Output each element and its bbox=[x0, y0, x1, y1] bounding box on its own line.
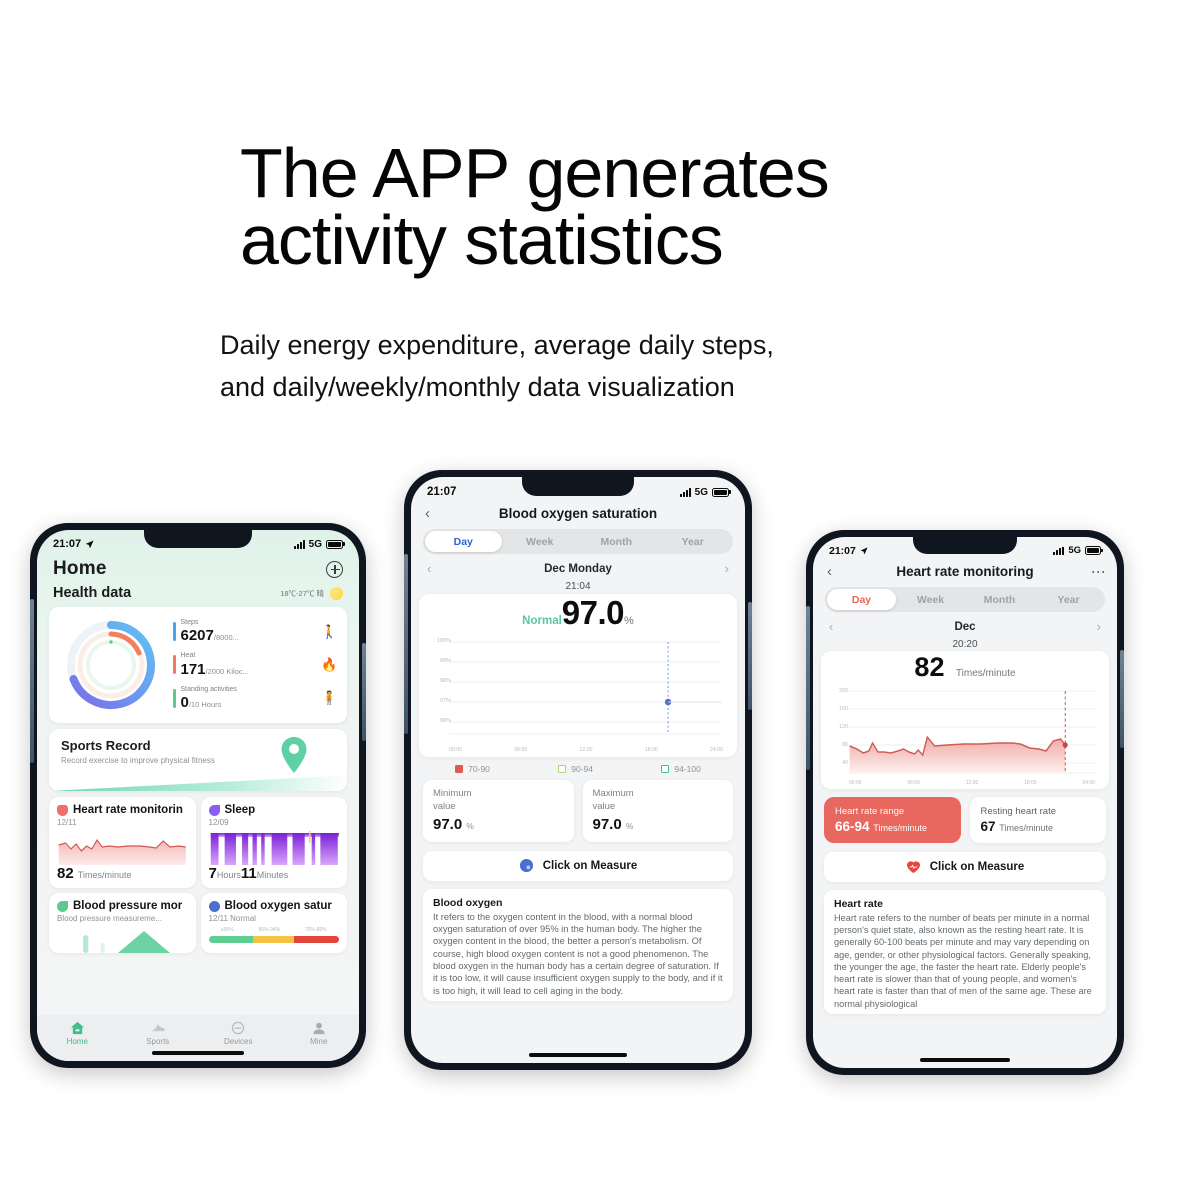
y-tick-label: 80 bbox=[842, 742, 848, 748]
tab-mine[interactable]: Mine bbox=[279, 1015, 360, 1052]
page-title: Heart rate monitoring bbox=[813, 564, 1117, 579]
legend-label: 94-100 bbox=[674, 764, 700, 774]
card-sleep[interactable]: Sleep 12/09 7Hours11M bbox=[201, 797, 348, 888]
card-unit: Times/minute bbox=[873, 823, 927, 833]
metric-standing: Standing activities 0/10 Hours 🧍 bbox=[173, 685, 337, 712]
y-tick-label: 200 bbox=[839, 688, 848, 694]
page-title: Blood oxygen saturation bbox=[411, 506, 745, 521]
metric-label: Steps bbox=[181, 618, 317, 627]
y-tick-label: 100% bbox=[437, 638, 451, 644]
y-tick-label: 160 bbox=[839, 706, 848, 712]
reading-time: 20:20 bbox=[813, 639, 1117, 650]
x-tick-label: 24:00 bbox=[1082, 780, 1095, 786]
x-tick-label: 00:00 bbox=[849, 780, 862, 786]
phone-mockup-home: 21:07 5G Home Health data 18℃-27℃ 晴 bbox=[30, 523, 366, 1068]
hr-date-nav: ‹ Dec › bbox=[813, 612, 1117, 639]
card-subtitle: Blood pressure measureme... bbox=[57, 914, 188, 923]
notch bbox=[144, 530, 252, 548]
network-label: 5G bbox=[309, 539, 322, 550]
reading-time: 21:04 bbox=[411, 581, 745, 592]
walking-icon: 🚶 bbox=[321, 624, 337, 640]
home-header: Home bbox=[37, 554, 359, 582]
blood-oxygen-screen: 21:07 5G ‹ Blood oxygen saturation Day W… bbox=[411, 477, 745, 1063]
info-title: Blood oxygen bbox=[433, 897, 723, 909]
spo2-readout: 21:04 bbox=[411, 581, 745, 592]
card-heart-rate[interactable]: Heart rate monitorin 12/11 82 Times/minu… bbox=[49, 797, 196, 888]
card-value: 82 bbox=[57, 865, 74, 882]
card-value-minutes: 11 bbox=[241, 865, 257, 882]
home-indicator bbox=[920, 1058, 1010, 1062]
chevron-right-icon[interactable]: › bbox=[1097, 619, 1101, 634]
status-time: 21:07 bbox=[53, 538, 81, 550]
plus-circle-icon[interactable] bbox=[326, 561, 343, 578]
phone-mockup-blood-oxygen: 21:07 5G ‹ Blood oxygen saturation Day W… bbox=[404, 470, 752, 1070]
card-blood-oxygen[interactable]: Blood oxygen satur 12/11 Normal ≥95% 90%… bbox=[201, 893, 348, 953]
legend-item: 90-94 bbox=[558, 764, 593, 774]
weather-text: 18℃-27℃ 晴 bbox=[280, 588, 324, 599]
segment-label: Year bbox=[1057, 594, 1079, 606]
card-unit: % bbox=[466, 821, 474, 831]
hr-period-segmented-control: Day Week Month Year bbox=[825, 587, 1105, 612]
notch bbox=[522, 477, 634, 496]
hr-summary-row: Heart rate range 66-94 Times/minute Rest… bbox=[824, 797, 1106, 843]
tab-label: Devices bbox=[224, 1037, 252, 1046]
card-value: 97.0 bbox=[593, 816, 622, 833]
measure-label: Click on Measure bbox=[930, 861, 1025, 873]
tick-label: 70%-89% bbox=[305, 927, 327, 933]
shoe-icon bbox=[150, 1021, 166, 1035]
current-date: Dec bbox=[954, 621, 975, 633]
tab-home[interactable]: Home bbox=[37, 1015, 118, 1052]
reading-unit: % bbox=[624, 615, 634, 627]
minimum-value-card: Minimumvalue 97.0 % bbox=[423, 780, 574, 842]
spo2-legend: 70-90 90-94 94-100 bbox=[411, 757, 745, 780]
hr-chart-card: 82 Times/minute bbox=[821, 651, 1109, 789]
spo2-minmax-row: Minimumvalue 97.0 % Maximumvalue 97.0 % bbox=[423, 780, 733, 842]
y-tick-label: 99% bbox=[440, 658, 451, 664]
sleep-bar-chart bbox=[209, 831, 340, 865]
battery-icon bbox=[326, 540, 343, 549]
metric-value: 0 bbox=[181, 694, 189, 711]
maximum-value-card: Maximumvalue 97.0 % bbox=[583, 780, 734, 842]
y-tick-label: 98% bbox=[440, 678, 451, 684]
info-body: It refers to the oxygen content in the b… bbox=[433, 911, 723, 998]
tab-sports[interactable]: Sports bbox=[118, 1015, 199, 1052]
standing-icon: 🧍 bbox=[321, 690, 337, 706]
home-screen: 21:07 5G Home Health data 18℃-27℃ 晴 bbox=[37, 530, 359, 1061]
activity-rings-card[interactable]: Steps 6207/8000... 🚶 Heat 171/2000 Kiloc… bbox=[49, 607, 347, 723]
card-value: 97.0 bbox=[433, 816, 462, 833]
legend-item: 70-90 bbox=[455, 764, 490, 774]
chevron-left-icon[interactable]: ‹ bbox=[829, 619, 833, 634]
tab-label: Sports bbox=[146, 1037, 169, 1046]
metric-bar bbox=[173, 655, 176, 674]
tick-label: ≥95% bbox=[221, 927, 234, 933]
location-arrow-icon bbox=[85, 540, 94, 549]
location-arrow-icon bbox=[860, 547, 868, 555]
heart-rate-sparkline bbox=[57, 831, 188, 865]
segment-day[interactable]: Day bbox=[425, 531, 502, 552]
tab-label: Home bbox=[67, 1037, 88, 1046]
card-value: 67 bbox=[981, 819, 996, 834]
heart-icon bbox=[906, 860, 921, 874]
chevron-left-icon[interactable]: ‹ bbox=[827, 564, 832, 579]
card-unit: Times/minute bbox=[78, 870, 132, 880]
page-subheadline: Daily energy expenditure, average daily … bbox=[220, 325, 980, 409]
segment-label: Day bbox=[454, 536, 473, 548]
metric-label: Heat bbox=[181, 651, 317, 660]
x-tick-label: 18:00 bbox=[1024, 780, 1037, 786]
card-label-a: Minimum bbox=[433, 788, 472, 799]
metrics-list: Steps 6207/8000... 🚶 Heat 171/2000 Kiloc… bbox=[173, 615, 337, 715]
blood-oxygen-range-bar bbox=[209, 936, 340, 943]
heart-rate-screen: 21:07 5G ‹ Heart rate monitoring ⋮ Day W… bbox=[813, 537, 1117, 1068]
card-title: Blood pressure mor bbox=[73, 900, 182, 912]
metric-unit: /10 Hours bbox=[189, 700, 222, 709]
card-unit-hours: Hours bbox=[217, 870, 241, 880]
drop-icon bbox=[57, 901, 68, 912]
watch-icon bbox=[231, 1021, 245, 1035]
segment-month[interactable]: Month bbox=[578, 531, 655, 552]
segment-label: Month bbox=[601, 536, 633, 548]
network-label: 5G bbox=[1068, 545, 1081, 556]
x-tick-label: 12:00 bbox=[580, 747, 593, 753]
hr-chart: 200 160 120 80 40 00:00 06:00 12:00 18:0… bbox=[821, 683, 1109, 786]
tab-devices[interactable]: Devices bbox=[198, 1015, 279, 1052]
signal-icon bbox=[680, 488, 691, 497]
card-title: Heart rate monitorin bbox=[73, 804, 183, 816]
spo2-date-nav: ‹ Dec Monday › bbox=[411, 554, 745, 581]
metric-heat: Heat 171/2000 Kiloc... 🔥 bbox=[173, 651, 337, 678]
reading-unit: Times/minute bbox=[956, 668, 1016, 679]
card-date: 12/11 bbox=[57, 818, 188, 827]
metric-value: 6207 bbox=[181, 627, 214, 644]
heart-rate-info-card: Heart rate Heart rate refers to the numb… bbox=[824, 890, 1106, 1014]
segment-day[interactable]: Day bbox=[827, 589, 896, 610]
y-tick-label: 97% bbox=[440, 698, 451, 704]
blood-oxygen-info-card: Blood oxygen It refers to the oxygen con… bbox=[423, 889, 733, 1002]
card-label-b: value bbox=[433, 801, 456, 812]
section-title: Health data bbox=[53, 585, 131, 601]
reading-status: Normal bbox=[522, 615, 562, 627]
info-body: Heart rate refers to the number of beats… bbox=[834, 912, 1096, 1010]
spo2-navbar: ‹ Blood oxygen saturation bbox=[411, 502, 745, 529]
blood-pressure-graphic bbox=[57, 927, 188, 953]
heart-icon bbox=[57, 805, 68, 816]
metric-bar bbox=[173, 689, 176, 708]
subheadline-line-1: Daily energy expenditure, average daily … bbox=[220, 325, 980, 367]
x-tick-label: 18:00 bbox=[645, 747, 658, 753]
signal-icon bbox=[1053, 547, 1064, 555]
card-label: Resting heart rate bbox=[981, 806, 1096, 817]
page-headline: The APP generates activity statistics bbox=[240, 140, 1000, 273]
blood-oxygen-ticks: ≥95% 90%-94% 70%-89% bbox=[209, 927, 340, 933]
card-label-b: value bbox=[593, 801, 616, 812]
card-value-hours: 7 bbox=[209, 865, 217, 882]
battery-icon bbox=[1085, 546, 1101, 555]
card-blood-pressure[interactable]: Blood pressure mor Blood pressure measur… bbox=[49, 893, 196, 953]
chevron-left-icon[interactable]: ‹ bbox=[425, 506, 430, 521]
weather-widget: 18℃-27℃ 晴 bbox=[280, 587, 343, 600]
spo2-chart-card: Normal97.0% 100% bbox=[419, 594, 737, 757]
flame-icon: 🔥 bbox=[321, 657, 337, 673]
headline-line-2: activity statistics bbox=[240, 207, 1000, 274]
y-tick-label: 120 bbox=[839, 724, 848, 730]
tab-label: Mine bbox=[310, 1037, 327, 1046]
card-label: Heart rate range bbox=[835, 806, 950, 817]
reading-value: 97.0 bbox=[562, 594, 624, 631]
segment-week[interactable]: Week bbox=[502, 531, 579, 552]
card-label-a: Maximum bbox=[593, 788, 634, 799]
segment-label: Week bbox=[917, 594, 944, 606]
health-data-header: Health data 18℃-27℃ 晴 bbox=[37, 582, 359, 607]
card-date: 12/09 bbox=[209, 818, 340, 827]
metric-value: 171 bbox=[181, 661, 206, 678]
metric-unit: /8000... bbox=[214, 633, 239, 642]
network-label: 5G bbox=[695, 487, 708, 498]
click-on-measure-button[interactable]: Click on Measure bbox=[824, 852, 1106, 882]
reading-value: 82 bbox=[914, 652, 944, 682]
spo2-icon bbox=[519, 858, 534, 873]
segment-label: Year bbox=[682, 536, 704, 548]
spo2-period-segmented-control: Day Week Month Year bbox=[423, 529, 733, 554]
x-tick-label: 06:00 bbox=[907, 780, 920, 786]
x-tick-label: 24:00 bbox=[710, 747, 723, 753]
card-value: 66-94 bbox=[835, 819, 870, 834]
sun-icon bbox=[330, 587, 343, 600]
metric-bar bbox=[173, 622, 176, 641]
y-tick-label: 40 bbox=[842, 760, 848, 766]
segment-month[interactable]: Month bbox=[965, 589, 1034, 610]
spo2-chart: 100% 99% 98% 97% 96% 00:00 06:00 12:00 1… bbox=[419, 632, 737, 753]
location-pin-icon bbox=[279, 736, 309, 774]
chevron-left-icon[interactable]: ‹ bbox=[427, 561, 431, 576]
card-title: Blood oxygen satur bbox=[225, 900, 332, 912]
moon-icon bbox=[209, 805, 220, 816]
x-tick-label: 00:00 bbox=[449, 747, 462, 753]
segment-week[interactable]: Week bbox=[896, 589, 965, 610]
card-subtitle: 12/11 Normal bbox=[209, 914, 340, 923]
x-tick-label: 06:00 bbox=[514, 747, 527, 753]
resting-heart-rate-card: Resting heart rate 67 Times/minute bbox=[970, 797, 1107, 843]
heart-rate-range-card: Heart rate range 66-94 Times/minute bbox=[824, 797, 961, 843]
legend-label: 70-90 bbox=[468, 764, 490, 774]
click-on-measure-button[interactable]: Click on Measure bbox=[423, 851, 733, 881]
measure-label: Click on Measure bbox=[543, 860, 638, 872]
circle-icon bbox=[209, 901, 220, 912]
signal-icon bbox=[294, 540, 305, 549]
home-indicator bbox=[529, 1053, 627, 1057]
metric-label: Standing activities bbox=[181, 685, 317, 694]
status-time: 21:07 bbox=[427, 486, 456, 498]
info-title: Heart rate bbox=[834, 898, 1096, 910]
activity-rings-chart bbox=[55, 615, 167, 715]
kebab-menu-icon[interactable]: ⋮ bbox=[1095, 565, 1103, 579]
notch bbox=[913, 537, 1017, 554]
card-unit: % bbox=[626, 821, 634, 831]
segment-label: Week bbox=[526, 536, 553, 548]
segment-label: Day bbox=[852, 594, 871, 606]
battery-icon bbox=[712, 488, 729, 497]
metric-unit: /2000 Kiloc... bbox=[206, 667, 249, 676]
phone-mockup-heart-rate: 21:07 5G ‹ Heart rate monitoring ⋮ Day W… bbox=[806, 530, 1124, 1075]
hr-readout: 20:20 bbox=[813, 639, 1117, 650]
segment-year[interactable]: Year bbox=[655, 531, 732, 552]
page-title: Home bbox=[53, 558, 107, 580]
y-tick-label: 96% bbox=[440, 718, 451, 724]
tick-label: 90%-94% bbox=[258, 927, 280, 933]
card-unit: Times/minute bbox=[999, 823, 1053, 833]
segment-year[interactable]: Year bbox=[1034, 589, 1103, 610]
subheadline-line-2: and daily/weekly/monthly data visualizat… bbox=[220, 367, 980, 409]
legend-label: 90-94 bbox=[571, 764, 593, 774]
sports-record-card[interactable]: Sports Record Record exercise to improve… bbox=[49, 729, 347, 791]
x-tick-label: 12:00 bbox=[966, 780, 979, 786]
chevron-right-icon[interactable]: › bbox=[725, 561, 729, 576]
metric-steps: Steps 6207/8000... 🚶 bbox=[173, 618, 337, 645]
status-time: 21:07 bbox=[829, 545, 856, 557]
home-indicator bbox=[152, 1051, 244, 1055]
current-date: Dec Monday bbox=[544, 563, 612, 575]
segment-label: Month bbox=[984, 594, 1016, 606]
hr-navbar: ‹ Heart rate monitoring ⋮ bbox=[813, 560, 1117, 587]
person-icon bbox=[312, 1021, 326, 1035]
legend-item: 94-100 bbox=[661, 764, 700, 774]
card-title: Sleep bbox=[225, 804, 256, 816]
home-icon bbox=[70, 1021, 85, 1035]
card-unit-minutes: Minutes bbox=[257, 870, 289, 880]
health-cards-grid: Heart rate monitorin 12/11 82 Times/minu… bbox=[49, 797, 347, 953]
